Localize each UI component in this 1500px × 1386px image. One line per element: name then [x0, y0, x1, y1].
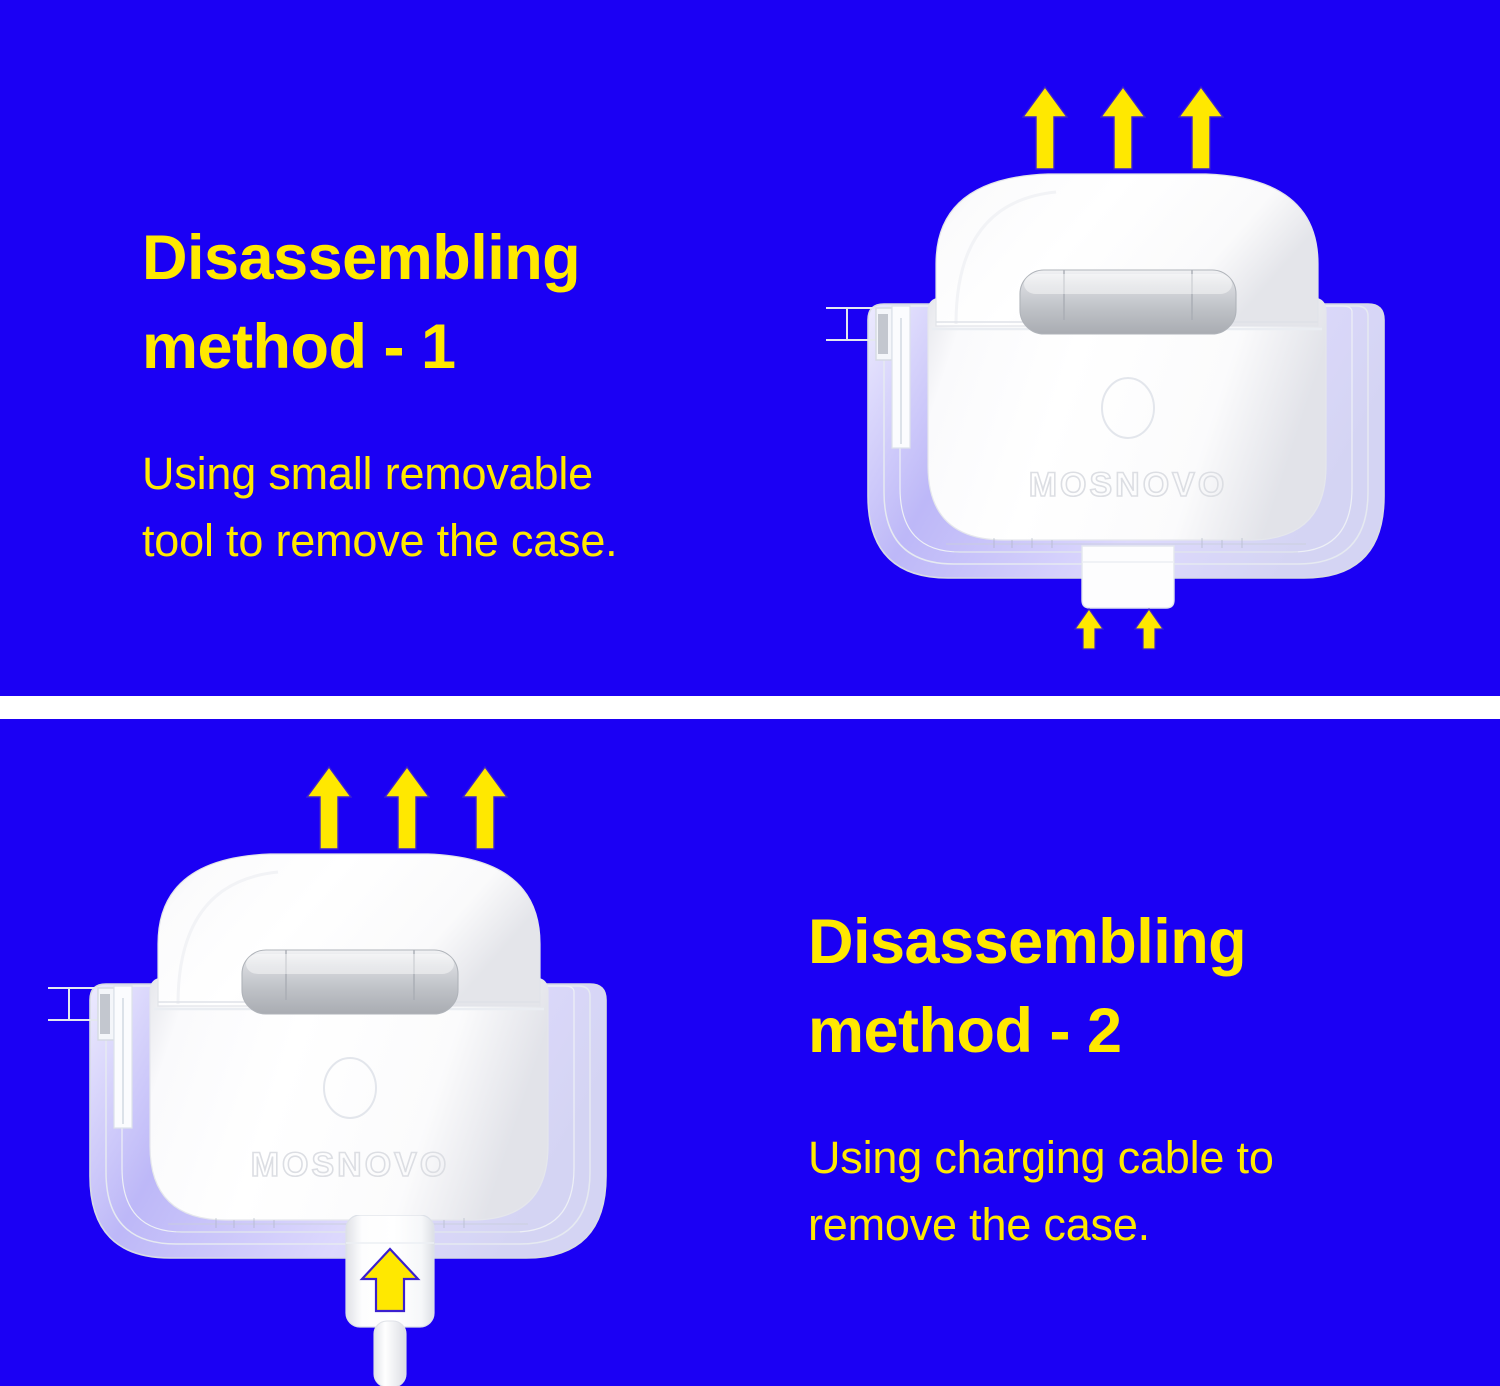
instruction-graphic: Disassembling method - 1 Using small rem… [0, 0, 1500, 1386]
removable-tool-tab [1082, 546, 1174, 608]
case-clip [1020, 270, 1236, 334]
panel-1-arrows-up-top [1022, 86, 1224, 170]
panel-1-subline: Using small removable tool to remove the… [142, 440, 782, 575]
arrow-up-icon [1100, 86, 1146, 170]
brand-emboss-label: MOSNOVO [1029, 466, 1228, 504]
panel-1-arrows-up-bottom [1074, 608, 1164, 650]
panel-divider [0, 696, 1500, 719]
brand-emboss-label: MOSNOVO [251, 1146, 450, 1184]
arrow-up-icon [306, 766, 352, 850]
arrow-up-icon [462, 766, 508, 850]
panel-method-1: Disassembling method - 1 Using small rem… [0, 0, 1500, 696]
panel-2-text-block: Disassembling method - 2 Using charging … [808, 898, 1448, 1259]
panel-1-text-block: Disassembling method - 1 Using small rem… [142, 214, 782, 575]
cable-cord [374, 1321, 406, 1386]
arrow-up-icon [1134, 608, 1164, 650]
panel-2-subline: Using charging cable to remove the case. [808, 1124, 1448, 1259]
arrow-up-icon [1074, 608, 1104, 650]
arrow-up-icon [1178, 86, 1224, 170]
panel-2-headline: Disassembling method - 2 [808, 898, 1448, 1077]
charging-cable [332, 1215, 448, 1386]
case-clip [242, 950, 458, 1014]
arrow-up-icon [1022, 86, 1068, 170]
panel-1-case-illustration: MOSNOVO [826, 148, 1426, 618]
panel-1-headline: Disassembling method - 1 [142, 214, 782, 393]
arrow-up-icon [384, 766, 430, 850]
panel-2-arrows-up-top [306, 766, 508, 850]
